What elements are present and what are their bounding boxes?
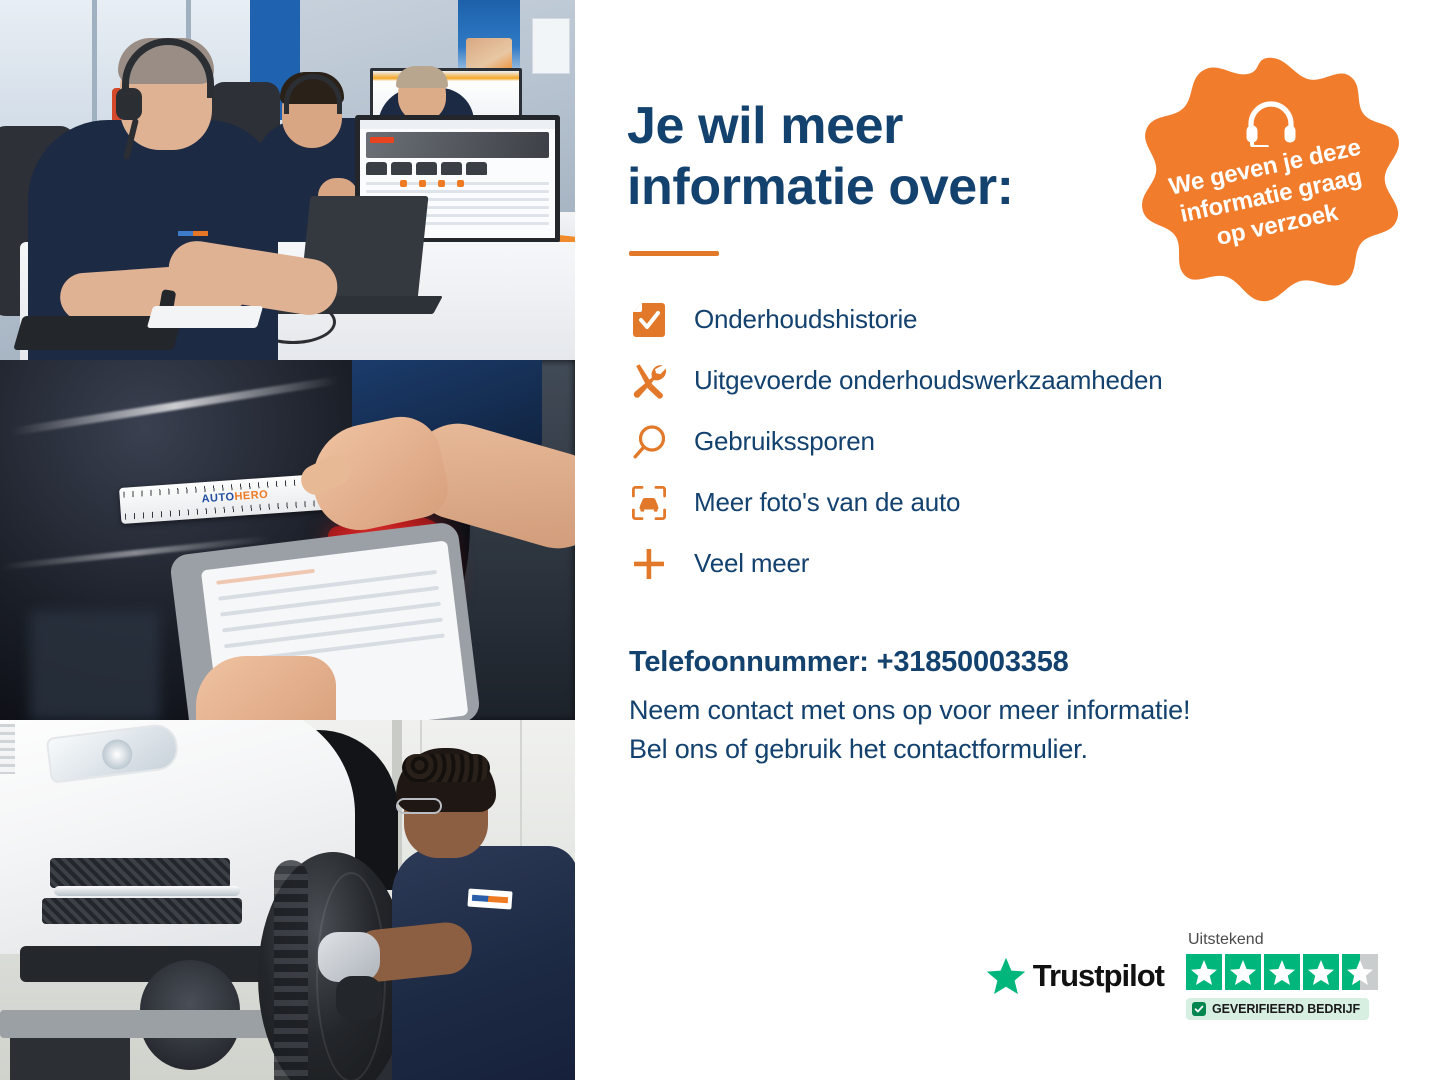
star-filled-icon — [1186, 954, 1222, 990]
notebook — [147, 306, 263, 328]
list-item-label: Veel meer — [694, 548, 809, 579]
eyeglasses — [396, 798, 442, 814]
autohero-polo-logo — [178, 228, 208, 238]
autohero-polo-logo — [467, 888, 512, 909]
call-center-agents-photo — [0, 0, 575, 360]
contact-block: Telefoonnummer: +31850003358 Neem contac… — [629, 646, 1384, 769]
list-item-label: Meer foto's van de auto — [694, 487, 960, 518]
tool-chest — [10, 1038, 130, 1080]
headset-icon — [1245, 101, 1297, 147]
contact-copy-line-1: Neem contact met ons op voor meer inform… — [629, 695, 1190, 725]
photo-column: AUTOHERO — [0, 0, 575, 1080]
magnifier-icon — [629, 422, 669, 462]
car-inspection-photo: AUTOHERO — [0, 360, 575, 720]
chrome-trim — [54, 886, 240, 896]
list-item: Uitgevoerde onderhoudswerkzaamheden — [629, 361, 1384, 401]
bumper-vent — [50, 858, 230, 888]
star-filled-icon — [1225, 954, 1261, 990]
promo-page: AUTOHERO — [0, 0, 1440, 1080]
headline-line-2: informatie over: — [627, 158, 1014, 216]
page-title: Je wil meer informatie over: — [627, 96, 1147, 219]
car-underbody — [20, 946, 270, 982]
inspector-hand — [196, 656, 336, 720]
plus-icon — [629, 544, 669, 584]
headline-line-1: Je wil meer — [627, 97, 903, 155]
content-panel: Je wil meer informatie over: Onderhoudsh… — [575, 0, 1440, 1080]
vehicle-lift — [0, 1010, 300, 1038]
trustpilot-rating: Uitstekend — [1186, 931, 1378, 1020]
work-glove — [318, 932, 380, 982]
star-filled-icon — [1264, 954, 1300, 990]
bumper-vent — [42, 898, 242, 924]
status-badge: We geven je deze informatie graag op ver… — [1133, 55, 1408, 327]
workshop-tire-photo — [0, 720, 575, 1080]
star-filled-icon — [1303, 954, 1339, 990]
trustpilot-star-icon — [986, 957, 1026, 995]
trustpilot-wordmark: Trustpilot — [1033, 958, 1164, 994]
list-item-label: Uitgevoerde onderhoudswerkzaamheden — [694, 365, 1163, 396]
agent-hair — [396, 66, 448, 88]
list-item: Gebruikssporen — [629, 422, 1384, 462]
feature-list: Onderhoudshistorie Uitgevoerde onderhoud — [629, 300, 1384, 584]
tools-wrench-screwdriver-icon — [629, 361, 669, 401]
trustpilot-rating-label: Uitstekend — [1188, 931, 1264, 949]
document-check-icon — [629, 300, 669, 340]
contact-copy-line-2: Bel ons of gebruik het contactformulier. — [629, 734, 1088, 764]
list-item: Veel meer — [629, 544, 1384, 584]
car-scan-icon — [629, 483, 669, 523]
phone-number[interactable]: Telefoonnummer: +31850003358 — [629, 646, 1384, 679]
contact-copy: Neem contact met ons op voor meer inform… — [629, 691, 1384, 769]
background-person-blur — [30, 610, 160, 720]
check-icon — [1192, 1002, 1206, 1016]
accent-divider — [629, 251, 719, 256]
list-item-label: Gebruikssporen — [694, 426, 875, 457]
star-half-icon — [1342, 954, 1378, 990]
trustpilot-logo: Trustpilot — [986, 957, 1164, 995]
list-item-label: Onderhoudshistorie — [694, 304, 917, 335]
trustpilot-stars — [1186, 954, 1378, 990]
verified-company-label: GEVERIFIEERD BEDRIJF — [1212, 1002, 1360, 1016]
car-grille — [0, 724, 15, 774]
work-glove — [336, 976, 382, 1020]
wall-poster — [532, 18, 570, 74]
verified-company-badge: GEVERIFIEERD BEDRIJF — [1186, 998, 1369, 1020]
trustpilot-widget[interactable]: Trustpilot Uitstekend — [986, 931, 1378, 1020]
list-item: Meer foto's van de auto — [629, 483, 1384, 523]
headset-earcup — [116, 88, 142, 120]
